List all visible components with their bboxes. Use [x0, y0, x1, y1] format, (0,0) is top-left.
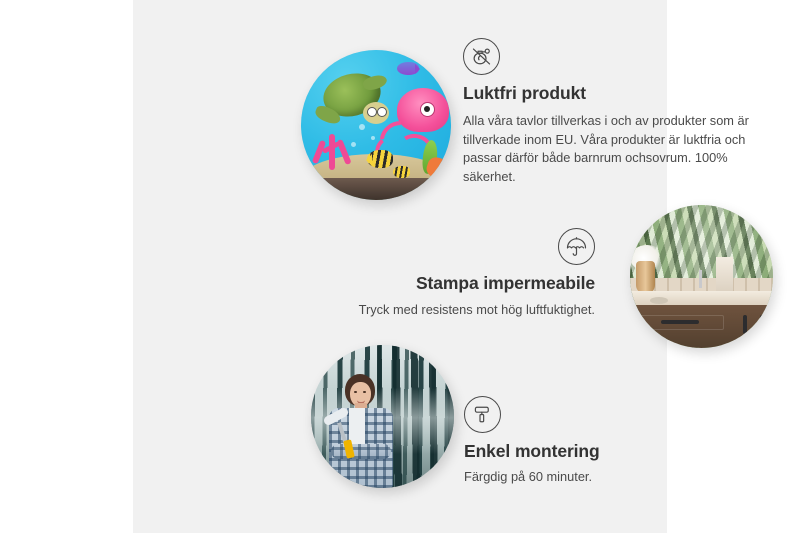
eye [354, 391, 357, 393]
blue-fish-icon [397, 62, 419, 75]
small-fish-icon [393, 166, 410, 178]
umbrella-icon [558, 228, 595, 265]
bubble-icon [359, 124, 365, 130]
eye [363, 391, 366, 393]
bathroom-scene [630, 205, 773, 348]
content-panel: Luktfri produkt Alla våra tavlor tillver… [133, 0, 667, 533]
feature-description: Tryck med resistens mot hög luftfuktighe… [293, 301, 595, 320]
crossed-arms [331, 444, 391, 459]
soap-dish-icon [650, 297, 668, 304]
drawer-handle-icon [661, 320, 698, 324]
feature-title: Stampa impermeabile [293, 273, 595, 295]
ocean-scene [301, 50, 451, 200]
feature-waterproof: Stampa impermeabile Tryck med resistens … [293, 228, 595, 320]
feature-title: Enkel montering [464, 441, 744, 463]
feature-description: Färgdig på 60 minuter. [464, 468, 744, 487]
sea-floor [301, 178, 451, 200]
no-odour-spray-icon [463, 38, 500, 75]
bubble-icon [371, 136, 375, 140]
bathroom-wallpaper-photo [630, 205, 773, 348]
coral-icon [313, 128, 357, 170]
candle-icon [716, 257, 733, 291]
vase-icon [636, 261, 655, 294]
paint-roller-icon [464, 396, 501, 433]
yellow-fish-icon [367, 150, 393, 168]
turtle-head-icon [363, 102, 389, 124]
cabinet-handle-icon [760, 315, 764, 335]
waterproof-icon-row [293, 228, 595, 265]
vanity-cabinet [630, 305, 773, 348]
feature-odourless: Luktfri produkt Alla våra tavlor tillver… [463, 38, 763, 187]
cabinet-handle-icon [743, 315, 747, 335]
faucet-icon [699, 270, 702, 288]
feature-mounting: Enkel montering Färgdig på 60 minuter. [464, 396, 744, 487]
promo-page: Luktfri produkt Alla våra tavlor tillver… [0, 0, 800, 533]
octopus-eye-icon [420, 102, 435, 117]
forest-scene [311, 345, 454, 488]
underwater-cartoon-photo [301, 50, 451, 200]
feature-title: Luktfri produkt [463, 83, 763, 105]
decorator-person [319, 370, 397, 488]
decorator-forest-photo [311, 345, 454, 488]
feature-description: Alla våra tavlor tillverkas i och av pro… [463, 112, 763, 187]
